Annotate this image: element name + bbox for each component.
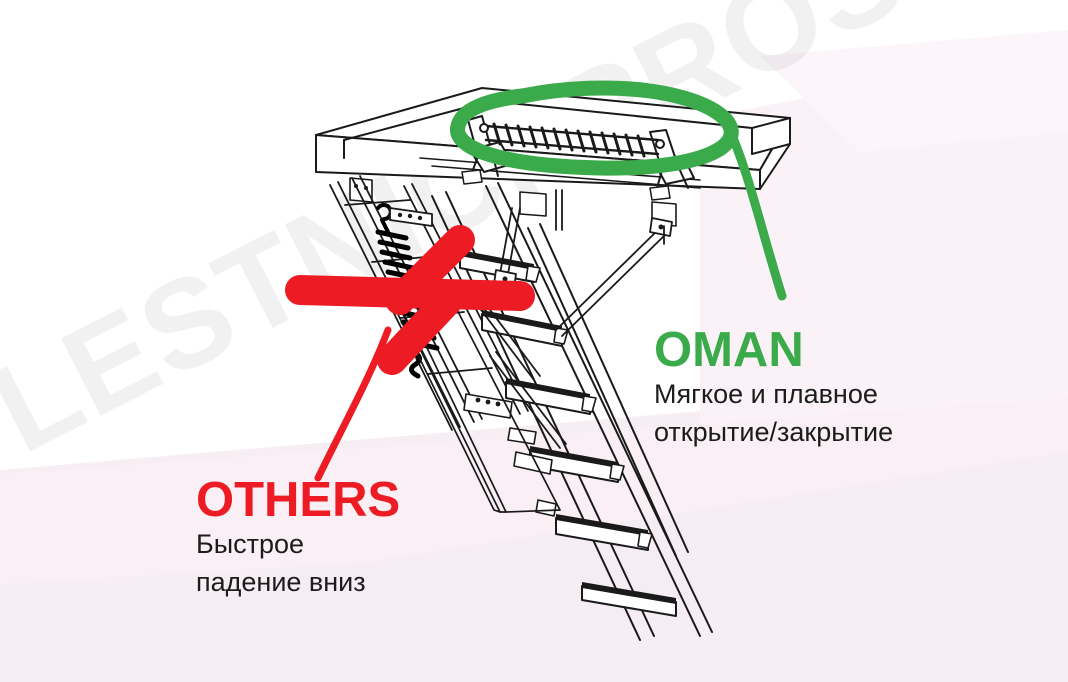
red-arrow [300,240,520,478]
oman-description: Мягкое и плавное открытие/закрытие [654,375,893,452]
green-ellipse-circle [457,88,782,296]
others-title: OTHERS [196,476,400,525]
oman-title: OMAN [654,326,893,375]
callout-oman: OMAN Мягкое и плавное открытие/закрытие [654,326,893,452]
others-description: Быстрое падение вниз [196,525,400,602]
annotation-marks [0,0,1068,682]
callout-others: OTHERS Быстрое падение вниз [196,476,400,602]
infographic-canvas: LESTNICI-PROSTO.RU [0,0,1068,682]
